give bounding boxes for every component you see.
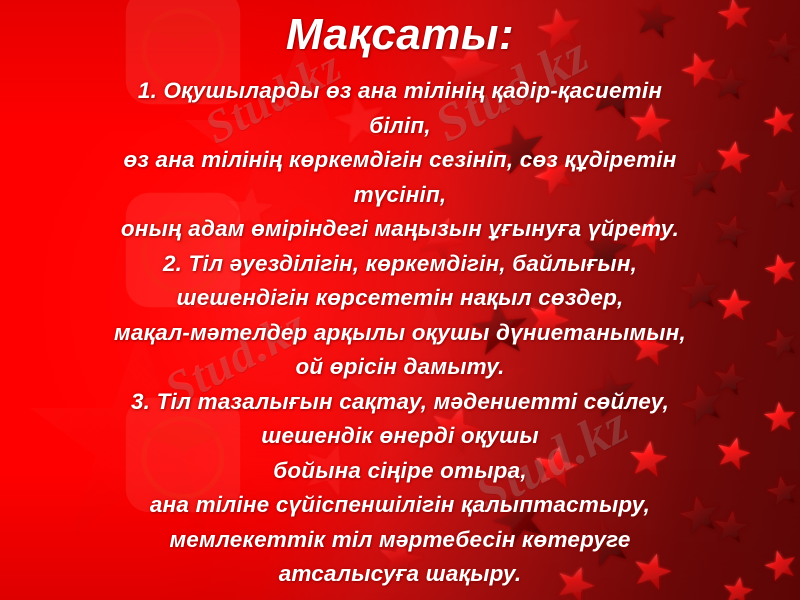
slide-title: Мақсаты:	[286, 12, 514, 58]
body-line: 1. Оқушыларды өз ана тілінің қадір-қасие…	[20, 74, 780, 109]
slide-body: 1. Оқушыларды өз ана тілінің қадір-қасие…	[20, 74, 780, 592]
body-line: бойына сіңіре отыра,	[20, 454, 780, 489]
body-line: біліп,	[20, 109, 780, 144]
body-line: 2. Тіл әуезділігін, көркемдігін, байлығы…	[20, 247, 780, 282]
body-line: өз ана тілінің көркемдігін сезініп, сөз …	[20, 143, 780, 178]
body-line: шешендік өнерді оқушы	[20, 419, 780, 454]
slide-content: Мақсаты: 1. Оқушыларды өз ана тілінің қа…	[0, 0, 800, 600]
presentation-slide: Stud.kz Stud.kz Stud.kz Stud.kz Мақсаты:…	[0, 0, 800, 600]
body-line: түсініп,	[20, 178, 780, 213]
body-line: шешендігін көрсететін нақыл сөздер,	[20, 281, 780, 316]
body-line: оның адам өміріндегі маңызын ұғынуға үйр…	[20, 212, 780, 247]
body-line: мемлекеттік тіл мәртебесін көтеруге	[20, 523, 780, 558]
body-line: 3. Тіл тазалығын сақтау, мәдениетті сөйл…	[20, 385, 780, 420]
body-line: мақал-мәтелдер арқылы оқушы дүниетанымын…	[20, 316, 780, 351]
body-line: ой өрісін дамыту.	[20, 350, 780, 385]
body-line: атсалысуға шақыру.	[20, 557, 780, 592]
body-line: ана тіліне сүйіспеншілігін қалыптастыру,	[20, 488, 780, 523]
